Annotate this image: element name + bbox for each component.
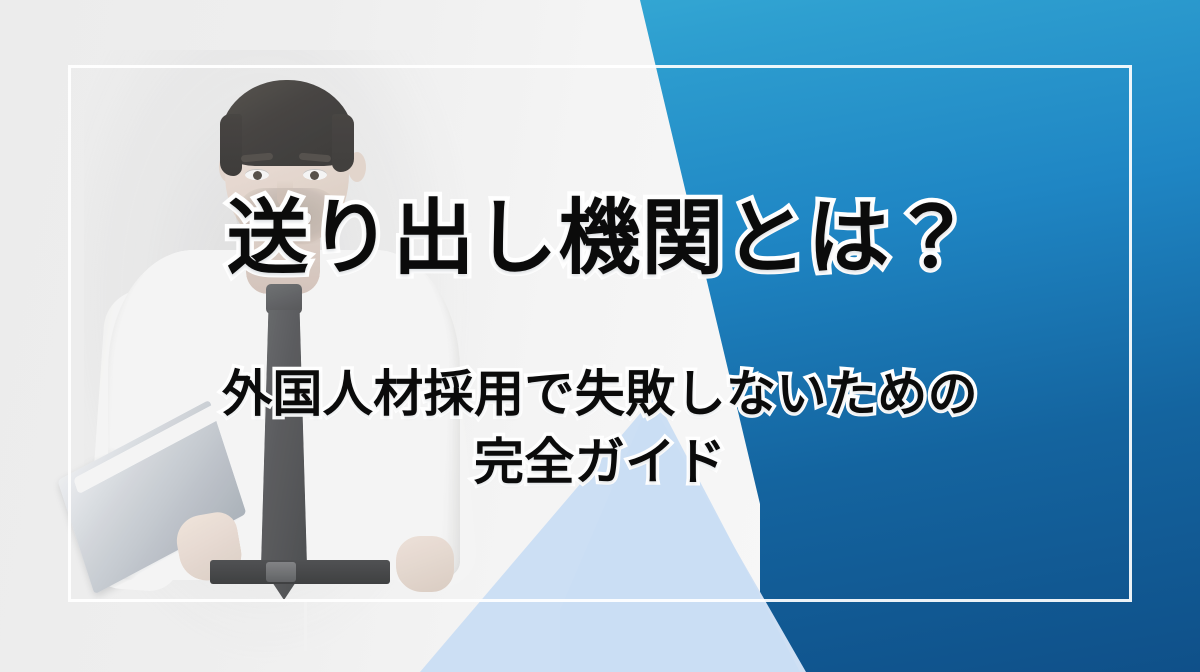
banner-title: 送り出し機関とは？ (0, 196, 1200, 283)
headline-group: 送り出し機関とは？ 外国人材採用で失敗しないための 完全ガイド (0, 0, 1200, 672)
hero-banner: 送り出し機関とは？ 外国人材採用で失敗しないための 完全ガイド (0, 0, 1200, 672)
banner-subtitle-line-1: 外国人材採用で失敗しないための (0, 360, 1200, 428)
banner-subtitle-line-2: 完全ガイド (0, 428, 1200, 496)
banner-subtitle: 外国人材採用で失敗しないための 完全ガイド (0, 360, 1200, 496)
